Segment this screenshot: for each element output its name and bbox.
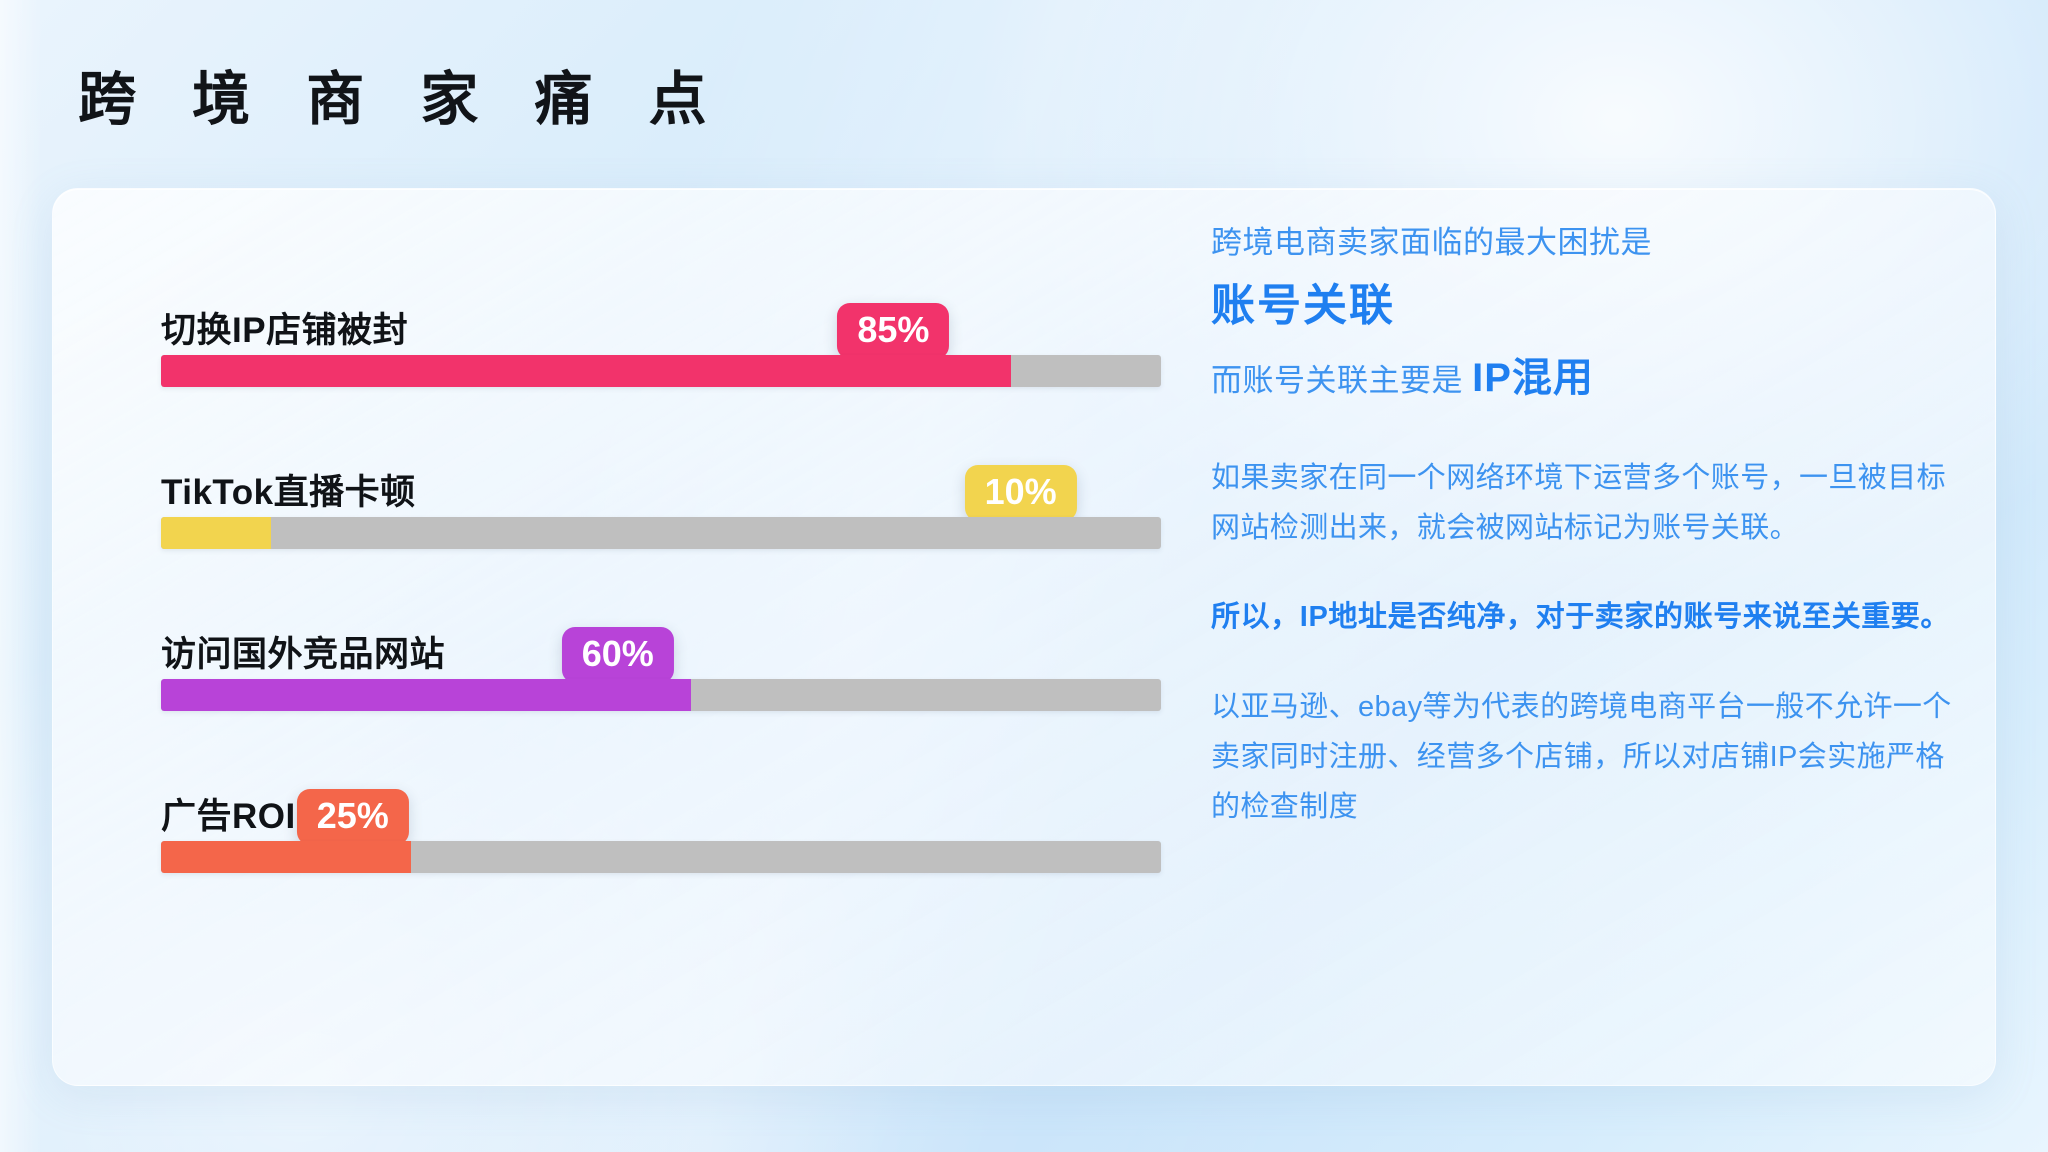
secondary-lead-text: 而账号关联主要是 IP混用 <box>1211 348 1971 408</box>
page-title: 跨 境 商 家 痛 点 <box>78 68 727 132</box>
bar-track <box>161 841 1161 873</box>
bar-header: 切换IP店铺被封 85% <box>109 283 1169 355</box>
bar-track <box>161 517 1161 549</box>
spacer <box>1211 408 1971 454</box>
bar-row: 访问国外竞品网站 60% <box>109 607 1169 711</box>
bar-row: 广告ROI降低 25% <box>109 769 1169 873</box>
spacer <box>1211 643 1971 683</box>
pain-point-bar-chart: 切换IP店铺被封 85% TikTok直播卡顿 10% <box>109 283 1169 873</box>
bar-label: 访问国外竞品网站 <box>161 626 445 677</box>
bar-header: 访问国外竞品网站 60% <box>109 607 1169 679</box>
bar-track <box>161 355 1161 387</box>
bar-value-badge: 85% <box>837 303 949 359</box>
bar-label: TikTok直播卡顿 <box>161 464 416 515</box>
bar-fill <box>161 841 411 873</box>
bar-fill <box>161 517 271 549</box>
bar-value-badge: 60% <box>562 627 674 683</box>
bar-fill <box>161 679 691 711</box>
bar-track <box>161 679 1161 711</box>
content-card: 切换IP店铺被封 85% TikTok直播卡顿 10% <box>52 188 1996 1086</box>
background-left-edge-highlight <box>0 0 42 1152</box>
lead-text: 跨境电商卖家面临的最大困扰是 <box>1211 219 1971 267</box>
bar-label: 切换IP店铺被封 <box>161 302 408 353</box>
bar-value-badge: 10% <box>965 465 1077 521</box>
paragraph-three: 以亚马逊、ebay等为代表的跨境电商平台一般不允许一个卖家同时注册、经营多个店铺… <box>1211 683 1971 833</box>
paragraph-one: 如果卖家在同一个网络环境下运营多个账号，一旦被目标网站检测出来，就会被网站标记为… <box>1211 454 1971 554</box>
bar-row: 切换IP店铺被封 85% <box>109 283 1169 387</box>
bar-fill <box>161 355 1011 387</box>
paragraph-two: 所以，IP地址是否纯净，对于卖家的账号来说至关重要。 <box>1211 593 1971 643</box>
headline-text: 账号关联 <box>1211 281 1971 332</box>
bar-value-badge: 25% <box>297 789 409 845</box>
spacer <box>1211 553 1971 593</box>
slide-root: 跨 境 商 家 痛 点 切换IP店铺被封 85% TikTok直播卡顿 10% <box>0 0 2048 1152</box>
bar-header: TikTok直播卡顿 10% <box>109 445 1169 517</box>
bar-header: 广告ROI降低 25% <box>109 769 1169 841</box>
secondary-lead-prefix: 而账号关联主要是 <box>1211 363 1472 398</box>
secondary-lead-emphasis: IP混用 <box>1472 356 1594 400</box>
explanation-text-column: 跨境电商卖家面临的最大困扰是 账号关联 而账号关联主要是 IP混用 如果卖家在同… <box>1211 219 1971 833</box>
bar-row: TikTok直播卡顿 10% <box>109 445 1169 549</box>
